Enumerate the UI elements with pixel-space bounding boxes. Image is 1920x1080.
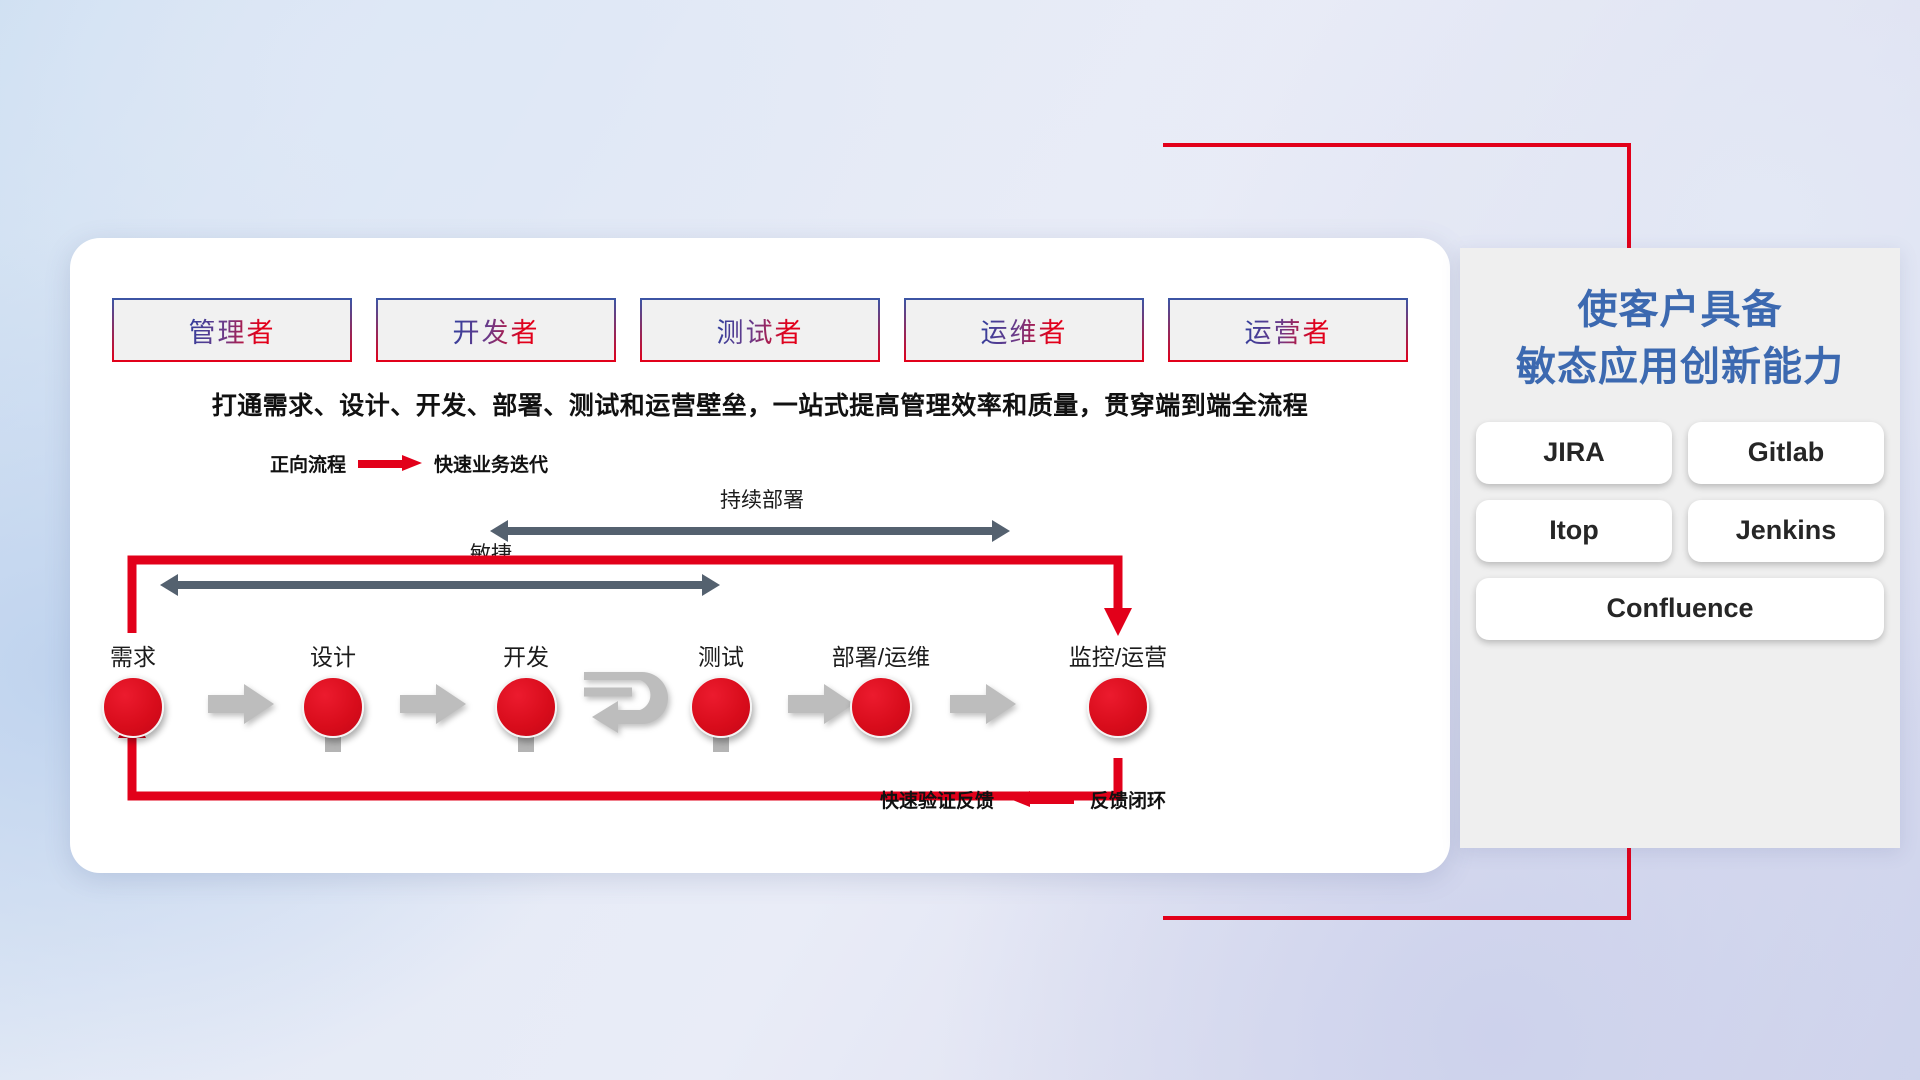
pipeline-stage-monitor-operate[interactable]: 监控/运营 [1087, 638, 1149, 738]
stage-label: 监控/运营 [1055, 638, 1181, 672]
stage-dot-icon [1087, 676, 1149, 738]
legend-forward-left-label: 正向流程 [270, 450, 346, 477]
description-text: 打通需求、设计、开发、部署、测试和运营壁垒，一站式提高管理效率和质量，贯穿端到端… [70, 386, 1450, 422]
tool-chip-confluence[interactable]: Confluence [1476, 578, 1884, 640]
capability-title-line1: 使客户具备 [1460, 282, 1900, 339]
tool-chip-gitlab[interactable]: Gitlab [1688, 422, 1884, 484]
pipeline-stage-test[interactable]: 测试 [690, 638, 752, 738]
tool-chip-list: JIRA Gitlab Itop Jenkins Confluence [1476, 422, 1884, 640]
stage-dot-icon [302, 676, 364, 738]
flow-arrow-icon [788, 682, 854, 726]
flow-arrow-icon [400, 682, 466, 726]
stage-dot-icon [495, 676, 557, 738]
tool-chip-jira[interactable]: JIRA [1476, 422, 1672, 484]
role-box-ops[interactable]: 运维者 [904, 298, 1144, 362]
stage-dot-icon [102, 676, 164, 738]
role-label: 测试者 [717, 311, 804, 350]
red-arrow-right-icon [358, 457, 422, 470]
role-box-tester[interactable]: 测试者 [640, 298, 880, 362]
role-box-developer[interactable]: 开发者 [376, 298, 616, 362]
legend-feedback-left-label: 快速验证反馈 [880, 786, 994, 813]
pipeline-stage-design[interactable]: 设计 [302, 638, 364, 738]
flow-arrow-icon [950, 682, 1016, 726]
stage-label: 开发 [495, 638, 557, 672]
stage-dot-icon [690, 676, 752, 738]
legend-forward-right-label: 快速业务迭代 [434, 450, 548, 477]
slide-canvas: 管理者 开发者 测试者 运维者 运营者 打通需求、设计、开发、部署、测试和运营壁… [0, 0, 1920, 1080]
stage-label: 设计 [302, 638, 364, 672]
tool-chip-jenkins[interactable]: Jenkins [1688, 500, 1884, 562]
span-label-continuous-deployment: 持续部署 [720, 484, 804, 514]
pipeline-stage-develop[interactable]: 开发 [495, 638, 557, 738]
role-label: 开发者 [453, 311, 540, 350]
role-label: 管理者 [189, 311, 276, 350]
legend-feedback-right-label: 反馈闭环 [1090, 786, 1166, 813]
stage-dot-icon [850, 676, 912, 738]
role-label: 运营者 [1245, 311, 1332, 350]
pipeline-stage-deploy-ops[interactable]: 部署/运维 [850, 638, 912, 738]
agile-span-arrow [160, 574, 720, 596]
legend-forward-flow: 正向流程 快速业务迭代 [270, 450, 548, 477]
span-label-agile: 敏捷 [470, 538, 512, 568]
stage-label: 测试 [690, 638, 752, 672]
tool-chip-itop[interactable]: Itop [1476, 500, 1672, 562]
role-box-operations[interactable]: 运营者 [1168, 298, 1408, 362]
capability-title-line2: 敏态应用创新能力 [1460, 339, 1900, 396]
stage-label: 部署/运维 [820, 638, 942, 672]
continuous-deployment-span-arrow [490, 520, 1010, 542]
role-boxes-row: 管理者 开发者 测试者 运维者 运营者 [112, 298, 1408, 362]
capability-panel: 使客户具备 敏态应用创新能力 JIRA Gitlab Itop Jenkins … [1460, 248, 1900, 848]
stage-label: 需求 [102, 638, 164, 672]
pipeline-stage-requirement[interactable]: 需求 [102, 638, 164, 738]
main-content-card: 管理者 开发者 测试者 运维者 运营者 打通需求、设计、开发、部署、测试和运营壁… [70, 238, 1450, 873]
ci-loop-arrow-icon [578, 670, 670, 736]
role-label: 运维者 [981, 311, 1068, 350]
capability-panel-title: 使客户具备 敏态应用创新能力 [1460, 282, 1900, 396]
legend-feedback-loop: 快速验证反馈 反馈闭环 [880, 786, 1166, 813]
flow-arrow-icon [208, 682, 274, 726]
red-arrow-left-icon [1010, 793, 1074, 806]
devops-pipeline: 需求 设计 开发 [70, 638, 1450, 758]
role-box-manager[interactable]: 管理者 [112, 298, 352, 362]
